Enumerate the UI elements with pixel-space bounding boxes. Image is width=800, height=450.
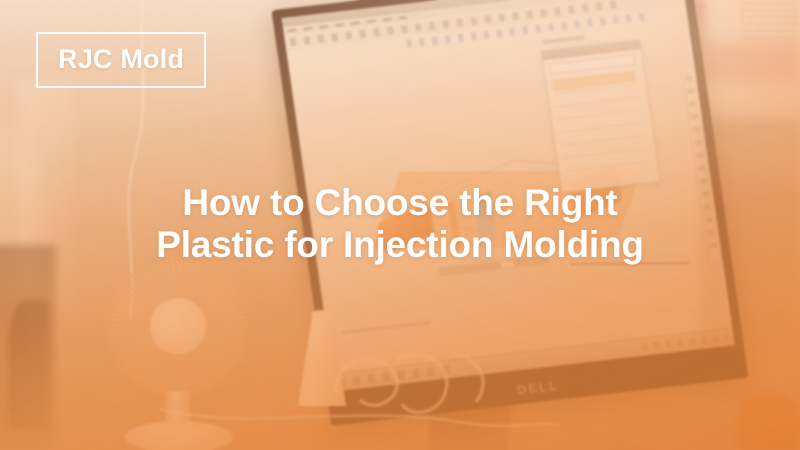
page-title-line-2: Plastic for Injection Molding	[60, 224, 740, 266]
brand-logo-box[interactable]: RJC Mold	[36, 32, 206, 88]
page-title-line-1: How to Choose the Right	[60, 182, 740, 224]
brand-logo-text: RJC Mold	[58, 46, 184, 73]
blog-header-banner: DELL RJC Mold	[0, 0, 800, 450]
page-title: How to Choose the Right Plastic for Inje…	[0, 182, 800, 266]
banner-content: RJC Mold How to Choose the Right Plastic…	[0, 0, 800, 450]
